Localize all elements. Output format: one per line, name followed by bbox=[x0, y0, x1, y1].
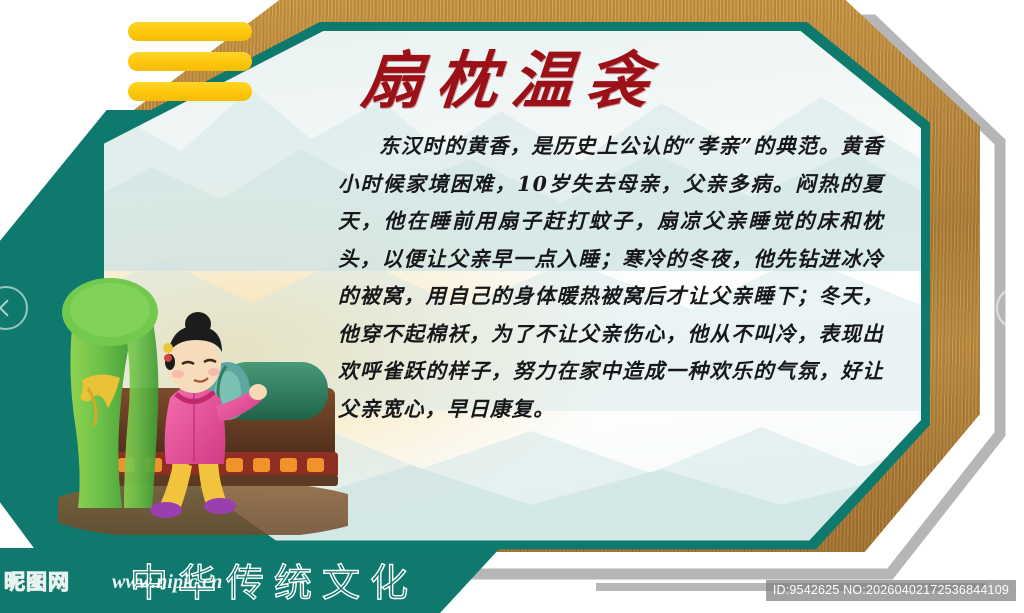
next-arrow-button[interactable] bbox=[996, 286, 1024, 330]
poster-canvas: 扇枕温衾 东汉时的黄香，是历史上公认的“孝亲”的典范。黄香小时候家境困难，10岁… bbox=[0, 0, 1024, 613]
chevron-right-icon bbox=[1008, 300, 1024, 317]
story-body-text: 东汉时的黄香，是历史上公认的“孝亲”的典范。黄香小时候家境困难，10岁失去母亲，… bbox=[338, 128, 884, 428]
page-title: 扇枕温衾 bbox=[0, 30, 1024, 120]
illustration-child-fanning-bed bbox=[58, 270, 348, 535]
watermark-url: www.nipic.cn bbox=[112, 571, 222, 594]
watermark-logo: 昵图网 bbox=[4, 566, 70, 596]
chevron-left-icon bbox=[0, 300, 16, 317]
image-id-badge: ID:9542625 NO:20260402172536844109 bbox=[766, 580, 1016, 601]
